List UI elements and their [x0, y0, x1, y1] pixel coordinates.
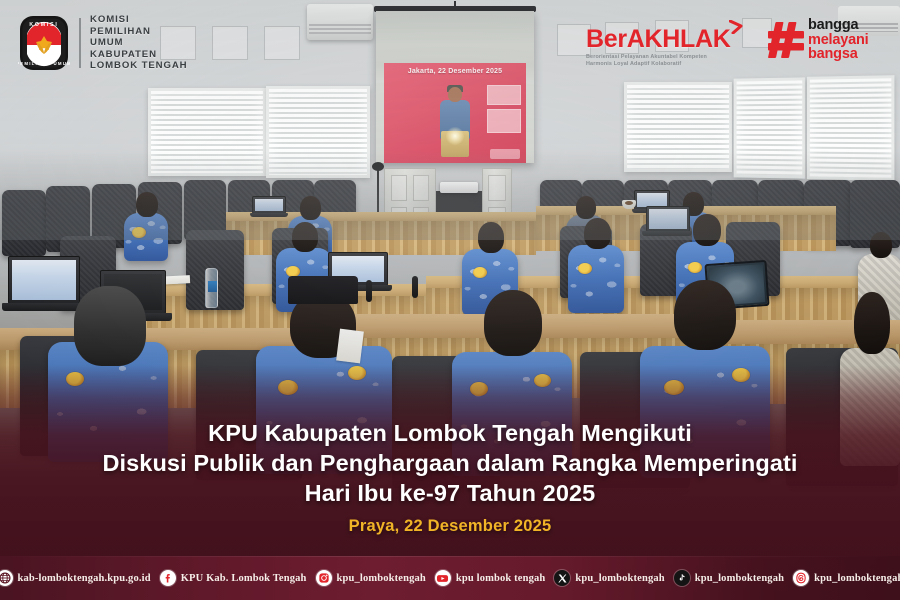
- projector-screen: Jakarta, 22 Desember 2025: [376, 11, 534, 163]
- banner-title-line: KPU Kabupaten Lombok Tengah Mengikuti: [0, 418, 900, 448]
- banner-title: KPU Kabupaten Lombok Tengah Mengikuti Di…: [0, 418, 900, 508]
- social-item-threads[interactable]: kpu_lomboktengah: [793, 570, 900, 586]
- presentation-slide: Jakarta, 22 Desember 2025: [384, 63, 526, 163]
- banner-title-line: Diskusi Publik dan Penghargaan dalam Ran…: [0, 448, 900, 478]
- berakhlak-ber: Ber: [586, 25, 627, 53]
- kpu-name-line: LOMBOK TENGAH: [90, 60, 188, 71]
- tiktok-icon: [674, 570, 690, 586]
- slide-thumbnail: [487, 85, 521, 105]
- svg-text:KOMISI: KOMISI: [29, 22, 58, 28]
- social-item-tiktok[interactable]: kpu_lomboktengah: [674, 570, 784, 586]
- kpu-logo: KOMISI PEMILIHAN UMUM: [18, 14, 70, 72]
- kpu-name-line: UMUM: [90, 37, 188, 48]
- instagram-icon: [316, 570, 332, 586]
- youtube-icon: [435, 570, 451, 586]
- hashtag-icon: [768, 20, 804, 60]
- peci-hat: [288, 276, 358, 304]
- berakhlak-tagline-line2: Harmonis Loyal Adaptif Kolaboratif: [586, 61, 751, 68]
- social-handle: kpu lombok tengah: [456, 573, 546, 584]
- slide-thumbnail: [487, 109, 521, 133]
- bangga-line3: bangsa: [808, 47, 868, 62]
- speaker-on-slide: [437, 87, 473, 157]
- kpu-name-line: PEMILIHAN: [90, 26, 188, 37]
- threads-icon: [793, 570, 809, 586]
- social-handle: kpu_lomboktengah: [695, 573, 784, 584]
- bangga-melayani-bangsa-logo: bangga melayani bangsa: [768, 18, 868, 62]
- berakhlak-logo: BerAKHLAK Berorientasi Pelayanan Akuntab…: [586, 26, 751, 69]
- bangga-line2: melayani: [808, 33, 868, 48]
- x-twitter-icon: [554, 570, 570, 586]
- wall-notice: [212, 26, 248, 60]
- social-item-website[interactable]: kab-lomboktengah.kpu.go.id: [0, 570, 151, 586]
- bangga-wordmark: bangga melayani bangsa: [808, 18, 868, 62]
- svg-text:PEMILIHAN UMUM: PEMILIHAN UMUM: [18, 61, 70, 66]
- facebook-icon: [160, 570, 176, 586]
- logo-divider: [79, 18, 81, 68]
- air-conditioner-unit: [307, 4, 373, 40]
- social-handle: kab-lomboktengah.kpu.go.id: [18, 573, 151, 584]
- bangga-line1: bangga: [808, 18, 868, 33]
- paper-note: [336, 329, 364, 364]
- kpu-name-line: KOMISI: [90, 14, 188, 25]
- meeting-room-photo: Jakarta, 22 Desember 2025: [0, 0, 900, 600]
- social-item-youtube[interactable]: kpu lombok tengah: [435, 570, 546, 586]
- banner-title-line: Hari Ibu ke-97 Tahun 2025: [0, 478, 900, 508]
- social-handle: kpu_lomboktengah: [337, 573, 426, 584]
- banner-canvas: Jakarta, 22 Desember 2025: [0, 0, 900, 600]
- table-microphone: [412, 276, 418, 298]
- banner-date: Praya, 22 Desember 2025: [0, 517, 900, 536]
- social-handle: KPU Kab. Lombok Tengah: [181, 573, 307, 584]
- water-bottle: [205, 268, 218, 308]
- social-item-instagram[interactable]: kpu_lomboktengah: [316, 570, 426, 586]
- wall-shadow: [0, 150, 900, 240]
- berakhlak-tagline: Berorientasi Pelayanan Akuntabel Kompete…: [586, 54, 751, 69]
- berakhlak-swoosh-icon: [729, 20, 743, 34]
- berakhlak-tagline-line1: Berorientasi Pelayanan Akuntabel Kompete…: [586, 54, 751, 61]
- social-media-bar: kab-lomboktengah.kpu.go.id KPU Kab. Lomb…: [0, 556, 900, 600]
- kpu-branding: KOMISI PEMILIHAN UMUM KOMISI PEMILIHAN U…: [18, 14, 188, 72]
- wall-notice: [264, 26, 300, 60]
- berakhlak-wordmark: BerAKHLAK: [586, 26, 731, 52]
- kpu-name-block: KOMISI PEMILIHAN UMUM KABUPATEN LOMBOK T…: [90, 14, 188, 71]
- social-handle: kpu_lomboktengah: [575, 573, 664, 584]
- social-item-facebook[interactable]: KPU Kab. Lombok Tengah: [160, 570, 307, 586]
- slide-caption: Jakarta, 22 Desember 2025: [384, 68, 526, 75]
- website-icon: [0, 570, 13, 586]
- social-handle: kpu_lomboktengah: [814, 573, 900, 584]
- kpu-name-line: KABUPATEN: [90, 49, 188, 60]
- social-item-x-twitter[interactable]: kpu_lomboktengah: [554, 570, 664, 586]
- berakhlak-akhlak: AKHLAK: [627, 25, 731, 53]
